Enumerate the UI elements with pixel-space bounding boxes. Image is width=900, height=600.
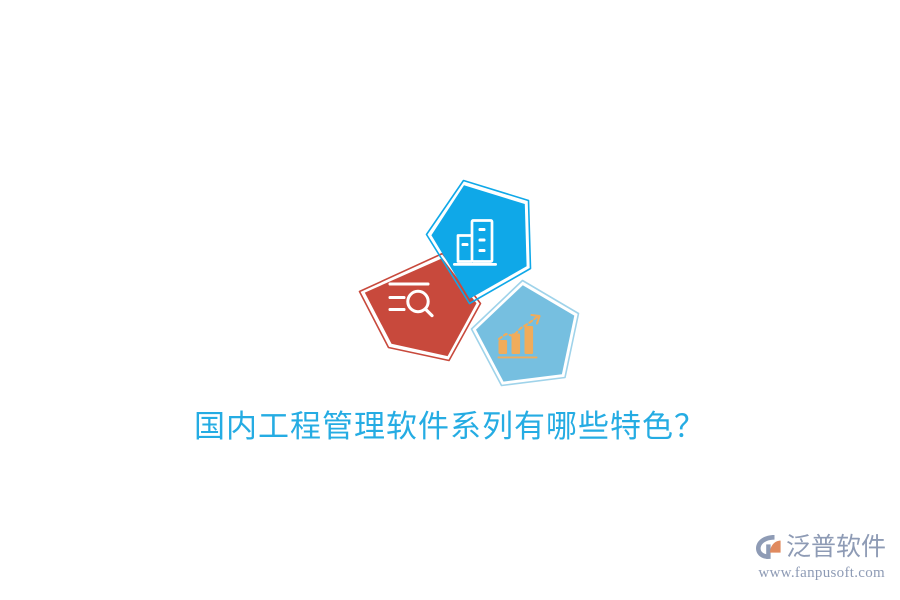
fanpu-f-logo-icon bbox=[754, 532, 784, 562]
watermark-brand-row: 泛普软件 bbox=[750, 530, 886, 564]
page-canvas: 国内工程管理软件系列有哪些特色？ 泛普软件 www.fanpusoft.com bbox=[0, 0, 900, 600]
watermark-logo: 泛普软件 www.fanpusoft.com bbox=[750, 530, 886, 590]
pentagon-lightblue-right bbox=[472, 281, 579, 386]
pentagon-cluster-graphic bbox=[350, 172, 590, 404]
page-title: 国内工程管理软件系列有哪些特色？ bbox=[0, 404, 900, 450]
watermark-url: www.fanpusoft.com bbox=[750, 564, 886, 582]
watermark-brand-name: 泛普软件 bbox=[786, 532, 886, 562]
